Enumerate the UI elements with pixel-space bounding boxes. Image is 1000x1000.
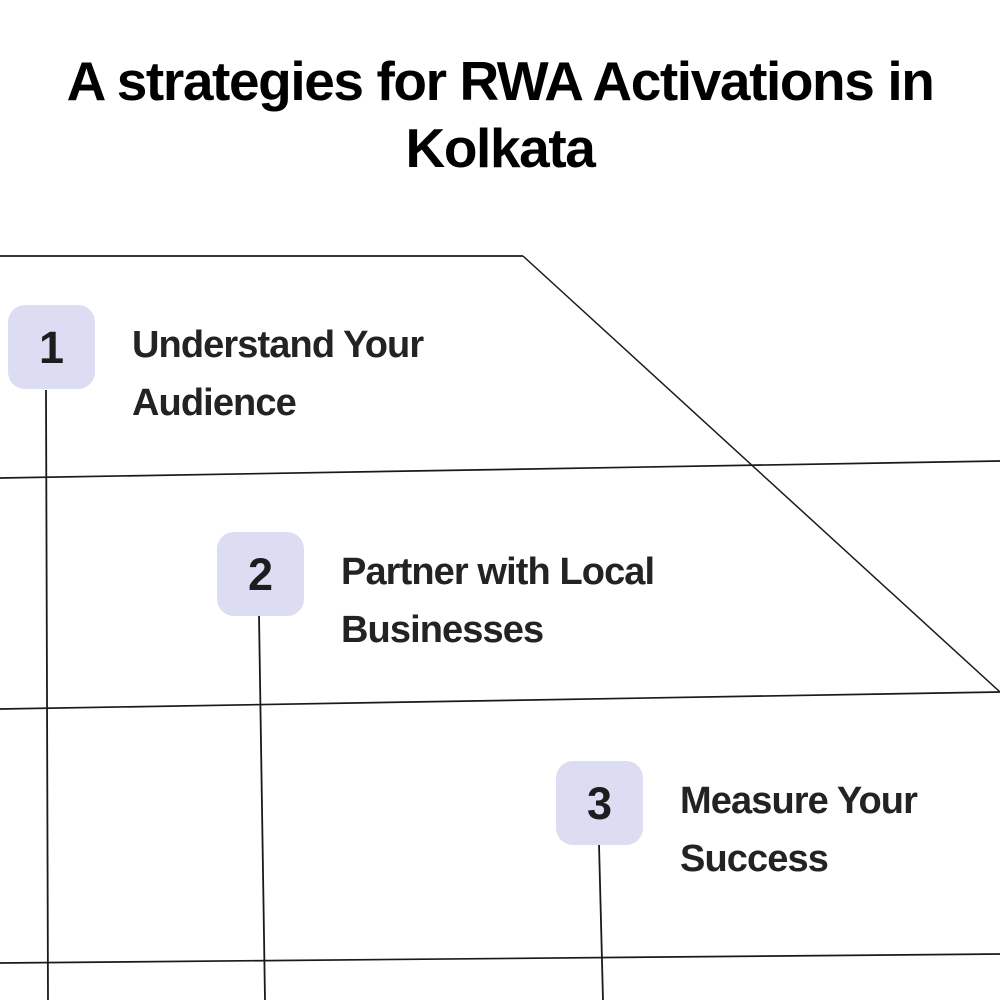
step-number-badge-2: 2 bbox=[217, 532, 304, 616]
step-label-3: Measure Your Success bbox=[680, 773, 1000, 889]
rule-fourth bbox=[0, 954, 1000, 963]
connector-step-1 bbox=[46, 390, 48, 1000]
step-item-2[interactable]: 2 Partner with Local Businesses bbox=[217, 532, 771, 660]
step-item-3[interactable]: 3 Measure Your Success bbox=[556, 761, 1000, 889]
step-label-1: Understand Your Audience bbox=[132, 317, 552, 433]
infographic-page: A strategies for RWA Activations in Kolk… bbox=[0, 0, 1000, 1000]
heading-block: A strategies for RWA Activations in Kolk… bbox=[0, 48, 1000, 182]
step-item-1[interactable]: 1 Understand Your Audience bbox=[8, 305, 552, 433]
step-number-badge-3: 3 bbox=[556, 761, 643, 845]
page-title: A strategies for RWA Activations in Kolk… bbox=[0, 48, 1000, 182]
step-number-badge-1: 1 bbox=[8, 305, 95, 389]
connector-step-2 bbox=[259, 615, 265, 1000]
rule-third bbox=[0, 692, 1000, 709]
rule-second bbox=[0, 461, 1000, 478]
step-label-2: Partner with Local Businesses bbox=[341, 544, 771, 660]
